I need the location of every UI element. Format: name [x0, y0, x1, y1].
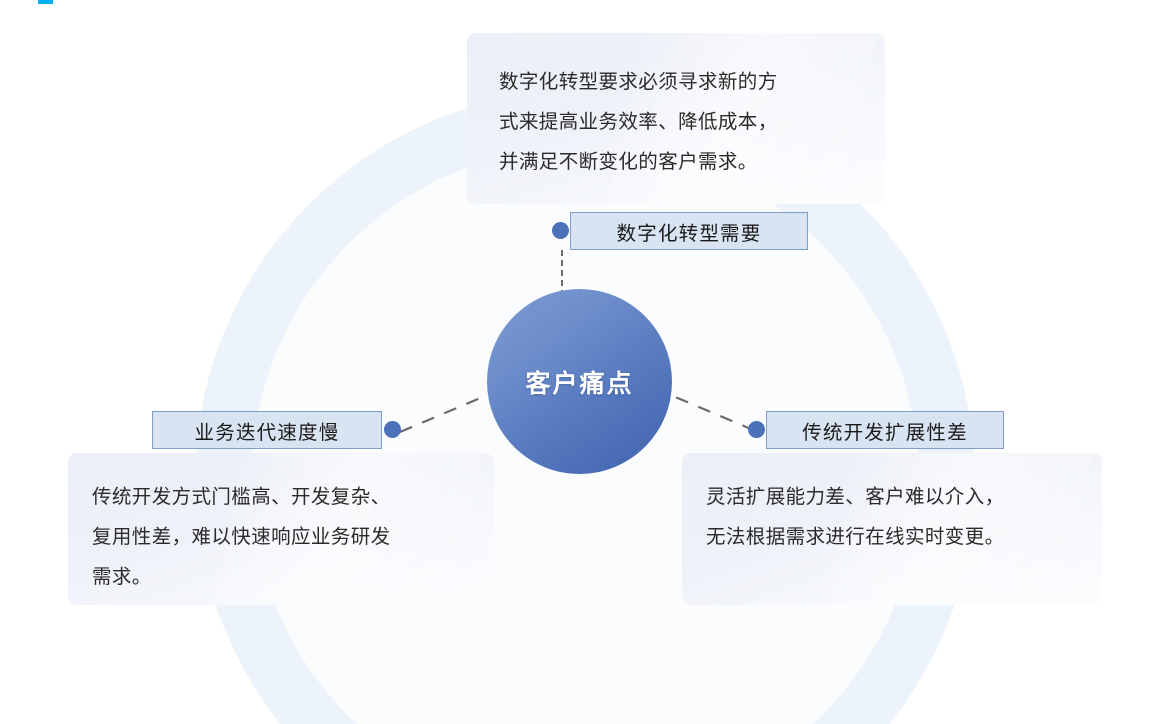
node-chip-right[interactable]: 传统开发扩展性差	[766, 411, 1004, 449]
connector-dot-top-icon	[552, 222, 569, 239]
node-chip-label-top: 数字化转型需要	[617, 217, 762, 246]
node-chip-label-left: 业务迭代速度慢	[195, 416, 340, 445]
center-node-label: 客户痛点	[525, 364, 633, 400]
node-chip-top[interactable]: 数字化转型需要	[570, 212, 808, 250]
description-card-right: 灵活扩展能力差、客户难以介入， 无法根据需求进行在线实时变更。	[682, 453, 1102, 605]
center-node-circle[interactable]: 客户痛点	[487, 289, 672, 474]
connector-dot-right-icon	[748, 421, 765, 438]
connector-dot-left-icon	[384, 421, 401, 438]
node-chip-label-right: 传统开发扩展性差	[802, 416, 968, 445]
description-text-right: 灵活扩展能力差、客户难以介入， 无法根据需求进行在线实时变更。	[682, 453, 1102, 557]
description-card-top: 数字化转型要求必须寻求新的方 式来提高业务效率、降低成本， 并满足不断变化的客户…	[467, 33, 885, 204]
cyan-accent-mark-icon	[38, 0, 53, 4]
description-card-left: 传统开发方式门槛高、开发复杂、 复用性差，难以快速响应业务研发 需求。	[68, 453, 494, 605]
diagram-canvas: 数字化转型要求必须寻求新的方 式来提高业务效率、降低成本， 并满足不断变化的客户…	[0, 0, 1150, 724]
node-chip-left[interactable]: 业务迭代速度慢	[152, 411, 382, 449]
description-text-top: 数字化转型要求必须寻求新的方 式来提高业务效率、降低成本， 并满足不断变化的客户…	[467, 33, 885, 182]
description-text-left: 传统开发方式门槛高、开发复杂、 复用性差，难以快速响应业务研发 需求。	[68, 453, 494, 597]
connector-line-top	[561, 250, 563, 296]
